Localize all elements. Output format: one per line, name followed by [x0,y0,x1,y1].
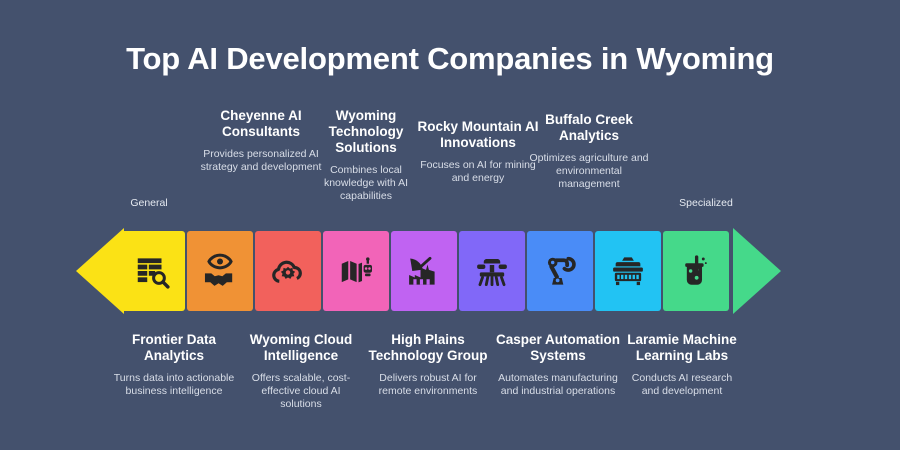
page-title: Top AI Development Companies in Wyoming [0,40,900,78]
callout-top-3: Buffalo Creek Analytics Optimizes agricu… [524,112,654,191]
callout-name: Rocky Mountain AI Innovations [417,119,539,151]
callout-name: Laramie Machine Learning Labs [622,332,742,364]
tile-frontier-data-analytics[interactable] [119,231,185,311]
callout-name: Frontier Data Analytics [110,332,238,364]
tile-laramie-machine-learning-labs[interactable] [663,231,729,311]
harvester-icon [473,252,511,290]
arrow-head-left-icon [76,228,124,314]
table-search-icon [133,252,171,290]
eye-handshake-icon [201,252,239,290]
callout-name: Buffalo Creek Analytics [524,112,654,144]
tile-high-plains-technology-group[interactable] [595,231,661,311]
callout-desc: Turns data into actionable business inte… [110,372,238,398]
callout-name: Wyoming Cloud Intelligence [242,332,360,364]
callout-desc: Optimizes agriculture and environmental … [524,152,654,191]
tile-rocky-mountain-ai-innovations[interactable] [391,231,457,311]
cloud-gear-icon [269,252,307,290]
callout-top-1: Wyoming Technology Solutions Combines lo… [307,108,425,203]
callout-bottom-4: Laramie Machine Learning Labs Conducts A… [622,332,742,398]
tile-casper-automation-systems[interactable] [527,231,593,311]
callout-bottom-0: Frontier Data Analytics Turns data into … [110,332,238,398]
callout-name: Wyoming Technology Solutions [307,108,425,156]
callout-desc: Combines local knowledge with AI capabil… [307,164,425,203]
callout-bottom-1: Wyoming Cloud Intelligence Offers scalab… [242,332,360,411]
tile-row [119,231,729,311]
robot-arm-icon [541,252,579,290]
callout-name: High Plains Technology Group [364,332,492,364]
callout-desc: Focuses on AI for mining and energy [417,159,539,185]
callout-bottom-3: Casper Automation Systems Automates manu… [494,332,622,398]
arrow-head-right-icon [733,228,781,314]
callout-top-2: Rocky Mountain AI Innovations Focuses on… [417,119,539,185]
callout-desc: Conducts AI research and development [622,372,742,398]
callout-name: Casper Automation Systems [494,332,622,364]
satellite-factory-icon [405,252,443,290]
conveyor-machine-icon [609,252,647,290]
callout-desc: Offers scalable, cost-effective cloud AI… [242,372,360,411]
flask-thermometer-icon [677,252,715,290]
callout-desc: Automates manufacturing and industrial o… [494,372,622,398]
tile-wyoming-cloud-intelligence[interactable] [255,231,321,311]
tile-cheyenne-ai-consultants[interactable] [187,231,253,311]
spectrum-arrow-band [0,228,900,314]
map-robot-icon [337,252,375,290]
tile-wyoming-technology-solutions[interactable] [323,231,389,311]
tile-buffalo-creek-analytics[interactable] [459,231,525,311]
axis-label-specialized: Specialized [661,197,751,209]
callout-desc: Delivers robust AI for remote environmen… [364,372,492,398]
infographic-canvas: Top AI Development Companies in Wyoming … [0,0,900,450]
callout-bottom-2: High Plains Technology Group Delivers ro… [364,332,492,398]
axis-label-general: General [104,197,194,209]
